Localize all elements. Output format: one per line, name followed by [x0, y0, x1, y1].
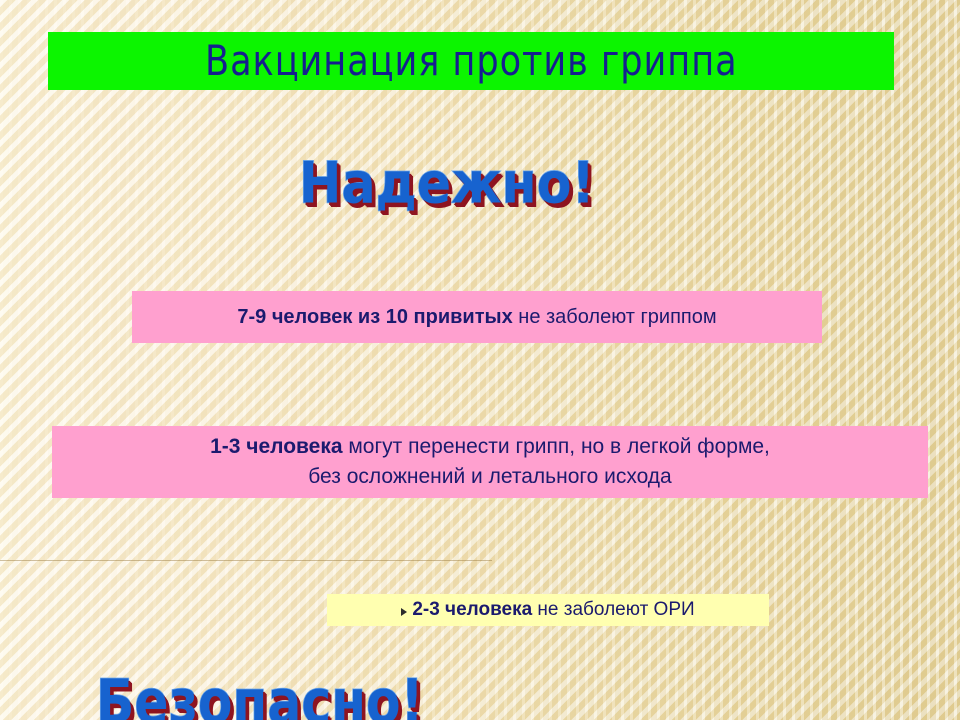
fact-2-line-1: 1-3 человека могут перенести грипп, но в… — [210, 432, 770, 462]
fact-3-emphasis: 2-3 человека — [412, 599, 532, 620]
fact-2-rest: могут перенести грипп, но в легкой форме… — [343, 435, 770, 458]
slide-canvas: Вакцинация против гриппа Надежно! 7-9 че… — [0, 0, 960, 720]
heading-safe: Безопасно! — [96, 673, 960, 720]
fact-box-reliable-1: 7-9 человек из 10 привитых не заболеют г… — [132, 291, 822, 343]
fact-1-rest: не заболеют гриппом — [513, 306, 717, 328]
divider-rule — [0, 560, 492, 561]
page-title: Вакцинация против гриппа — [205, 40, 738, 82]
fact-box-reliable-3: 2-3 человека не заболеют ОРИ — [327, 594, 769, 626]
fact-1-emphasis: 7-9 человек из 10 привитых — [237, 306, 512, 328]
title-banner: Вакцинация против гриппа — [48, 32, 894, 90]
fact-box-reliable-2: 1-3 человека могут перенести грипп, но в… — [52, 426, 928, 498]
fact-3-line: 2-3 человека не заболеют ОРИ — [401, 599, 694, 621]
fact-2-emphasis: 1-3 человека — [210, 435, 342, 458]
triangle-bullet-icon — [401, 608, 407, 616]
fact-2-line-2: без осложнений и летального исхода — [308, 462, 672, 492]
fact-1-line: 7-9 человек из 10 привитых не заболеют г… — [237, 306, 716, 329]
heading-reliable: Надежно! — [299, 155, 960, 212]
fact-3-rest: не заболеют ОРИ — [532, 599, 695, 620]
